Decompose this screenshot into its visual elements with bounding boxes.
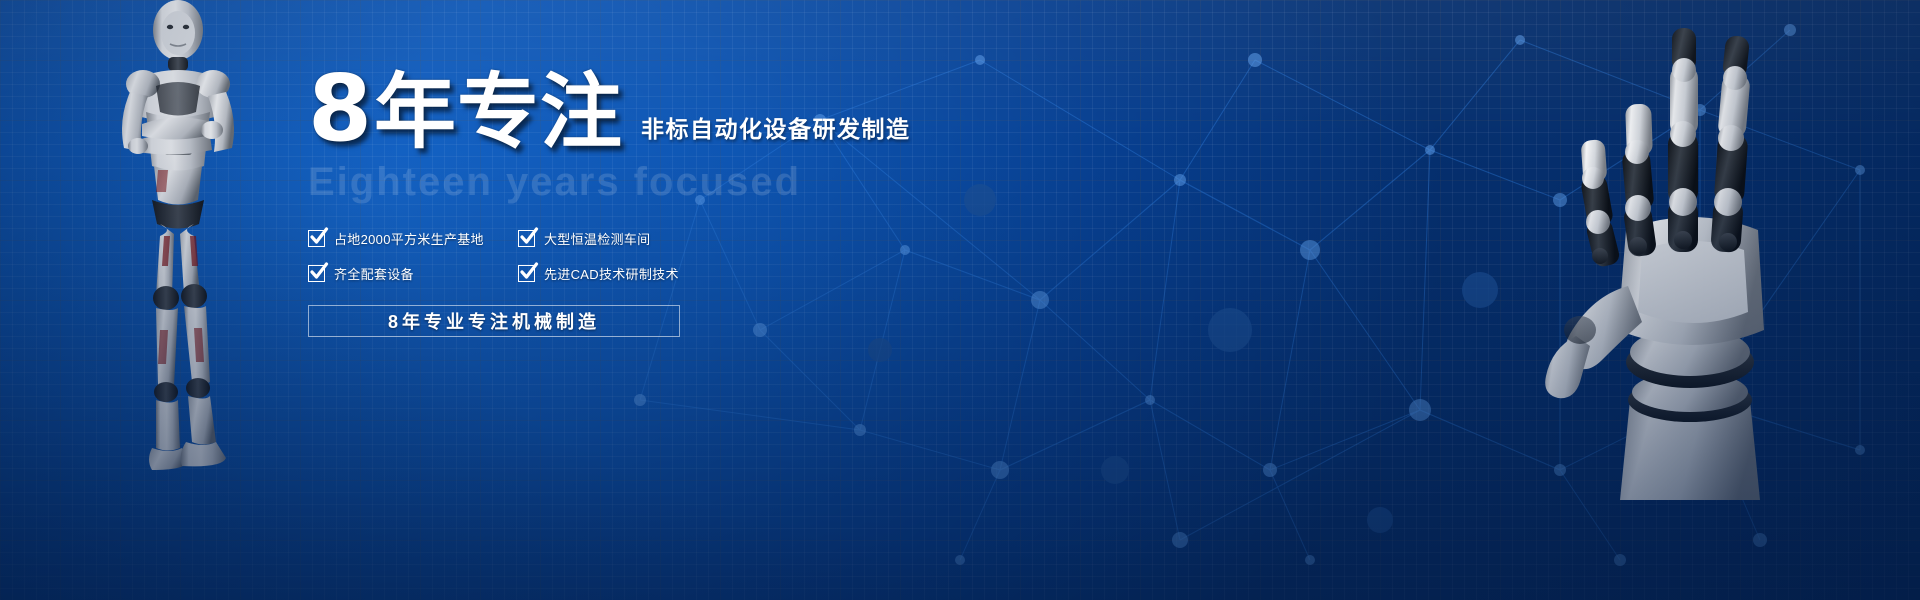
check-icon (518, 230, 535, 247)
humanoid-robot-figure (60, 0, 290, 500)
headline-number: 8 (308, 55, 374, 162)
headline-text: 年专注 (374, 65, 623, 160)
check-icon (308, 265, 325, 282)
feature-label: 大型恒温检测车间 (544, 229, 650, 248)
headline-row: 8年专注 非标自动化设备研发制造 (308, 70, 1008, 154)
feature-label: 占地2000平方米生产基地 (334, 229, 484, 248)
feature-item: 大型恒温检测车间 (518, 229, 708, 248)
feature-item: 占地2000平方米生产基地 (308, 229, 518, 248)
subtitle: 非标自动化设备研发制造 (641, 110, 911, 154)
banner-copy: 8年专注 非标自动化设备研发制造 Eighteen years focused … (308, 70, 1008, 337)
headline: 8年专注 (308, 68, 623, 154)
slogan-box: 8年专业专注机械制造 (308, 305, 680, 337)
ghost-english-text: Eighteen years focused (308, 160, 1008, 205)
feature-label: 齐全配套设备 (334, 264, 414, 283)
robotic-hand-figure (1480, 0, 1900, 500)
feature-item: 齐全配套设备 (308, 264, 518, 283)
slogan-text: 8年专业专注机械制造 (388, 308, 600, 334)
promo-banner: 8年专注 非标自动化设备研发制造 Eighteen years focused … (0, 0, 1920, 600)
check-icon (308, 230, 325, 247)
feature-list: 占地2000平方米生产基地 大型恒温检测车间 齐全配套设备 先进CAD技术研制技… (308, 229, 708, 283)
feature-item: 先进CAD技术研制技术 (518, 264, 708, 283)
feature-label: 先进CAD技术研制技术 (544, 264, 679, 283)
check-icon (518, 265, 535, 282)
